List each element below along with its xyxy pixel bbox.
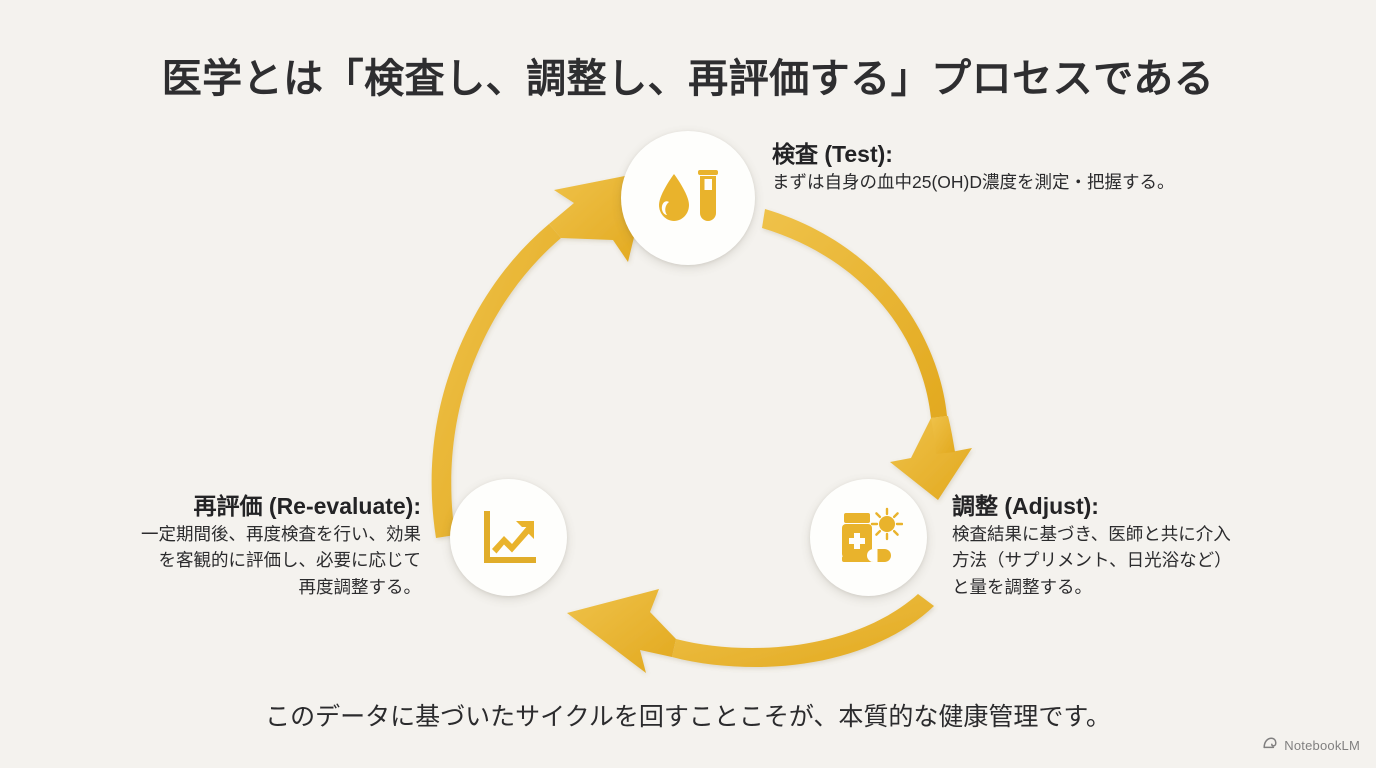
- line-chart-trend-up-icon: [476, 505, 542, 571]
- arrow-adjust-to-reevaluate: [567, 589, 934, 673]
- cycle-heading-reevaluate: 再評価 (Re-evaluate):: [61, 492, 421, 521]
- cycle-body-reevaluate-line-2: 再度調整する。: [61, 574, 421, 601]
- arrow-reevaluate-to-test: [432, 171, 650, 538]
- cycle-body-reevaluate-line-0: 一定期間後、再度検査を行い、効果: [61, 521, 421, 548]
- cycle-body-adjust-line-2: と量を調整する。: [952, 574, 1352, 601]
- cycle-text-reevaluate: 再評価 (Re-evaluate): 一定期間後、再度検査を行い、効果 を客観的…: [61, 492, 421, 601]
- cycle-text-adjust: 調整 (Adjust): 検査結果に基づき、医師と共に介入 方法（サプリメント、…: [952, 492, 1352, 601]
- page-title: 医学とは「検査し、調整し、再評価する」プロセスである: [0, 46, 1376, 104]
- cycle-body-reevaluate-line-1: を客観的に評価し、必要に応じて: [61, 547, 421, 574]
- cycle-heading-test: 検査 (Test):: [772, 140, 1175, 169]
- cycle-body-adjust-line-0: 検査結果に基づき、医師と共に介入: [952, 521, 1352, 548]
- cycle-node-reevaluate[interactable]: [450, 479, 567, 596]
- cycle-body-adjust-line-1: 方法（サプリメント、日光浴など）: [952, 547, 1352, 574]
- cycle-text-test: 検査 (Test): まずは自身の血中25(OH)D濃度を測定・把握する。: [772, 140, 1175, 195]
- slide-caption: このデータに基づいたサイクルを回すことこそが、本質的な健康管理です。: [0, 697, 1376, 733]
- notebooklm-watermark-label: NotebookLM: [1284, 738, 1360, 753]
- supplement-bottle-sun-icon: [835, 504, 903, 572]
- cycle-node-test[interactable]: [621, 131, 755, 265]
- arrow-test-to-adjust: [762, 209, 972, 500]
- slide-canvas: 医学とは「検査し、調整し、再評価する」プロセスである: [0, 0, 1376, 768]
- notebooklm-spiral-icon: [1262, 735, 1278, 756]
- cycle-arrow-group: [0, 0, 1376, 768]
- cycle-heading-adjust: 調整 (Adjust):: [952, 492, 1352, 521]
- blood-drop-test-tube-icon: [650, 160, 726, 236]
- notebooklm-watermark: NotebookLM: [1262, 735, 1360, 756]
- cycle-node-adjust[interactable]: [810, 479, 927, 596]
- cycle-body-test-line-0: まずは自身の血中25(OH)D濃度を測定・把握する。: [772, 169, 1175, 196]
